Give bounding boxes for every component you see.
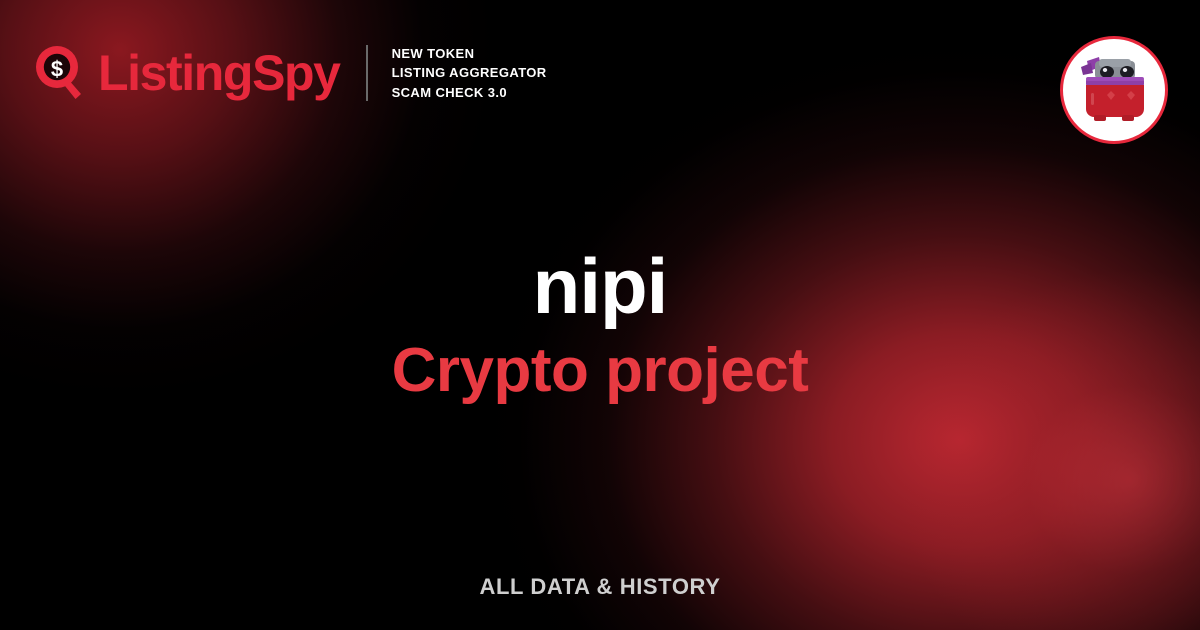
token-avatar[interactable] [1060,36,1168,144]
brand-logo[interactable]: $ ListingSpy [34,44,340,102]
brand-name: ListingSpy [98,48,340,98]
og-card: $ ListingSpy NEW TOKEN LISTING AGGREGATO… [0,0,1200,630]
tagline-line-3: SCAM CHECK 3.0 [392,83,547,102]
tagline-line-1: NEW TOKEN [392,44,547,63]
token-header-block: nipi Crypto project [0,246,1200,405]
brand-tagline: NEW TOKEN LISTING AGGREGATOR SCAM CHECK … [392,44,547,102]
magnifier-dollar-icon: $ [34,44,92,102]
token-name: nipi [0,246,1200,327]
token-subtitle: Crypto project [0,337,1200,405]
footer-caption: ALL DATA & HISTORY [0,574,1200,600]
tagline-line-2: LISTING AGGREGATOR [392,63,547,82]
site-header: $ ListingSpy NEW TOKEN LISTING AGGREGATO… [34,44,547,102]
header-divider [366,45,368,101]
svg-text:$: $ [51,57,63,82]
